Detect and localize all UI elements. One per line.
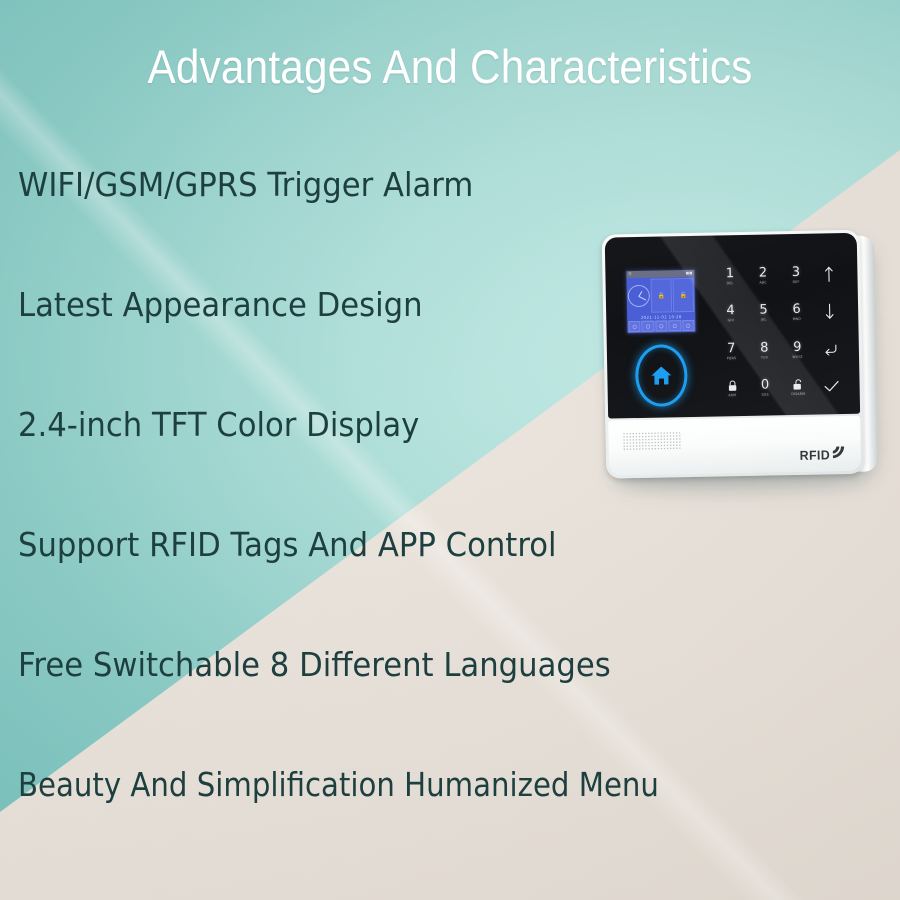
- home-button[interactable]: [635, 344, 688, 407]
- key-up[interactable]: [812, 255, 846, 293]
- key-sublabel: WXYZ: [792, 355, 802, 358]
- arrow-up-icon: [823, 266, 834, 282]
- feature-line-6: Beauty And Simplification Humanized Menu: [18, 768, 659, 801]
- key-1[interactable]: 1 DEL: [713, 257, 747, 295]
- lcd-main-area: 🔒 🔓: [626, 277, 695, 314]
- rfid-wordmark: RFID: [800, 447, 831, 463]
- key-disarm-unlock[interactable]: DISARM: [781, 368, 815, 406]
- alarm-panel-device: ☰ ■■ 🔒 🔓 2021-11-02 10:26: [602, 229, 883, 482]
- rfid-wave-icon: [832, 445, 845, 459]
- device-body: ☰ ■■ 🔒 🔓 2021-11-02 10:26: [602, 230, 865, 479]
- clock-icon: [627, 285, 649, 307]
- lcd-clock-widget: [626, 278, 650, 314]
- rfid-logo: RFID: [799, 445, 845, 463]
- key-3[interactable]: 3 DEF: [779, 256, 813, 294]
- key-digit: 6: [792, 303, 801, 316]
- key-sublabel: SOS: [762, 394, 769, 397]
- key-sublabel: DEL: [727, 282, 734, 285]
- key-digit: 2: [759, 266, 768, 279]
- feature-line-4: Support RFID Tags And APP Control: [18, 528, 557, 561]
- back-icon: [823, 343, 838, 355]
- key-back[interactable]: [814, 330, 848, 368]
- lcd-tile-disarm: 🔓: [673, 278, 695, 312]
- key-2[interactable]: 2 ABC: [746, 256, 780, 294]
- key-4[interactable]: 4 GHI: [714, 294, 748, 332]
- lcd-tile-group: 🔒 🔓: [650, 277, 696, 314]
- feature-line-5: Free Switchable 8 Different Languages: [18, 648, 611, 681]
- feature-line-3: 2.4-inch TFT Color Display: [18, 408, 419, 441]
- check-icon: [823, 380, 839, 392]
- key-confirm[interactable]: [814, 367, 848, 405]
- key-sublabel: DISARM: [791, 392, 805, 395]
- key-sublabel: ARM: [728, 394, 736, 397]
- keypad: 1 DEL 2 ABC 3 DEF: [713, 255, 848, 408]
- device-front-glass: ☰ ■■ 🔒 🔓 2021-11-02 10:26: [605, 233, 860, 419]
- key-digit: 0: [761, 379, 770, 392]
- key-down[interactable]: [813, 292, 847, 330]
- lock-open-icon: [792, 378, 803, 390]
- key-digit: 4: [726, 304, 735, 317]
- key-sublabel: MNO: [793, 318, 801, 321]
- key-digit: 9: [793, 340, 802, 353]
- key-0[interactable]: 0 SOS: [748, 369, 782, 407]
- lcd-signal-icon: ☰: [628, 273, 631, 277]
- arrow-down-icon: [824, 303, 835, 319]
- lcd-screen: ☰ ■■ 🔒 🔓 2021-11-02 10:26: [625, 269, 696, 334]
- lcd-battery-icon: ■■: [686, 272, 693, 276]
- key-7[interactable]: 7 PQRS: [715, 332, 749, 370]
- key-sublabel: GHI: [728, 319, 734, 322]
- key-sublabel: JKL: [761, 319, 766, 322]
- page-title: Advantages And Characteristics: [45, 42, 855, 91]
- lock-closed-icon: [727, 380, 737, 392]
- device-bottom-bar: RFID: [608, 416, 861, 476]
- product-feature-banner: Advantages And Characteristics WIFI/GSM/…: [0, 0, 900, 900]
- speaker-grille-icon: [622, 431, 680, 451]
- key-digit: 3: [792, 266, 801, 279]
- key-9[interactable]: 9 WXYZ: [781, 331, 815, 369]
- key-5[interactable]: 5 JKL: [747, 294, 781, 332]
- key-6[interactable]: 6 MNO: [780, 293, 814, 331]
- key-digit: 1: [726, 267, 735, 280]
- lcd-bottom-button: ○: [668, 320, 681, 331]
- lcd-bottom-button: ○: [628, 321, 641, 332]
- lcd-bottom-button: ○: [642, 321, 655, 332]
- home-icon: [649, 363, 673, 387]
- lcd-bottom-buttons: ○ ○ ○ ○ ○: [627, 319, 695, 333]
- key-digit: 7: [727, 342, 736, 355]
- feature-line-2: Latest Appearance Design: [18, 288, 423, 321]
- key-sublabel: ABC: [759, 281, 766, 284]
- key-8[interactable]: 8 TUV: [748, 331, 782, 369]
- lcd-bottom-button: ○: [682, 320, 695, 331]
- key-arm-lock[interactable]: ARM: [715, 369, 749, 407]
- key-sublabel: PQRS: [727, 357, 737, 360]
- lcd-tile-arm: 🔒: [651, 278, 673, 312]
- key-digit: 8: [760, 341, 769, 354]
- key-sublabel: TUV: [761, 356, 768, 359]
- key-digit: 5: [759, 304, 768, 317]
- key-sublabel: DEF: [793, 281, 800, 284]
- lcd-bottom-button: ○: [655, 320, 668, 331]
- feature-line-1: WIFI/GSM/GPRS Trigger Alarm: [18, 168, 473, 201]
